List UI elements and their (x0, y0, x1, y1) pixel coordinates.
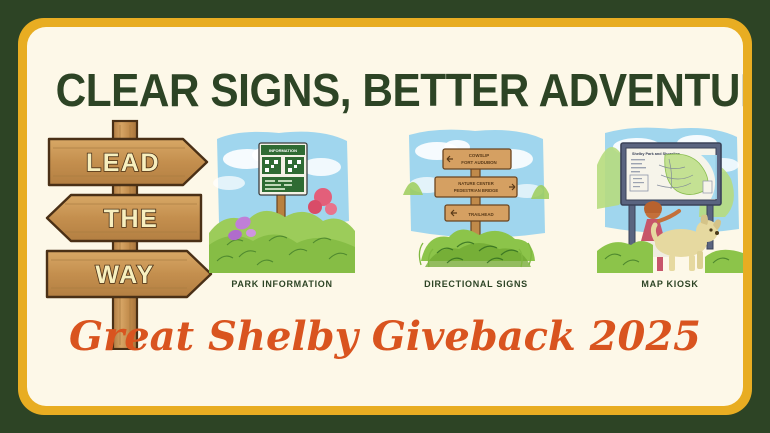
card-park-information: INFORMATION (209, 125, 355, 289)
directional-plank-2: NATURE CENTER PEDESTRIAN BRIDGE (435, 177, 517, 197)
svg-text:WAY: WAY (95, 261, 154, 289)
poster-panel: CLEAR SIGNS, BETTER ADVENTURES (27, 27, 743, 406)
card-label-map-kiosk: MAP KIOSK (597, 279, 743, 289)
card-map-kiosk: Shelby Park and Shoreline (597, 125, 743, 289)
park-information-sign-illustration: INFORMATION (209, 125, 355, 273)
campaign-script-title: Great Shelby Giveback 2025 (27, 317, 743, 357)
arrow-sign-the: THE (47, 195, 201, 241)
arrow-sign-way: WAY (47, 251, 211, 297)
directional-plank-3: TRAILHEAD (445, 205, 509, 221)
park-info-sign-board: INFORMATION (259, 143, 307, 195)
svg-text:TRAILHEAD: TRAILHEAD (468, 212, 493, 217)
card-directional-signs: COWSLIP FORT AUDUBON NATURE CENTER PEDES… (403, 125, 549, 289)
poster-root: CLEAR SIGNS, BETTER ADVENTURES (0, 0, 770, 433)
svg-text:LEAD: LEAD (86, 149, 160, 177)
map-kiosk-illustration: Shelby Park and Shoreline (597, 125, 743, 273)
svg-text:INFORMATION: INFORMATION (269, 148, 297, 153)
directional-plank-1: COWSLIP FORT AUDUBON (443, 149, 511, 169)
illustration-card-row: INFORMATION (209, 125, 743, 315)
svg-text:PEDESTRIAN BRIDGE: PEDESTRIAN BRIDGE (454, 188, 499, 193)
directional-signs-illustration: COWSLIP FORT AUDUBON NATURE CENTER PEDES… (403, 125, 549, 273)
svg-text:FORT AUDUBON: FORT AUDUBON (461, 160, 496, 165)
card-label-directional-signs: DIRECTIONAL SIGNS (403, 279, 549, 289)
svg-text:COWSLIP: COWSLIP (469, 153, 490, 158)
page-title: CLEAR SIGNS, BETTER ADVENTURES (56, 67, 715, 113)
svg-text:THE: THE (104, 205, 159, 233)
card-label-park-information: PARK INFORMATION (209, 279, 355, 289)
svg-text:NATURE CENTER: NATURE CENTER (458, 181, 494, 186)
arrow-sign-lead: LEAD (49, 139, 207, 185)
